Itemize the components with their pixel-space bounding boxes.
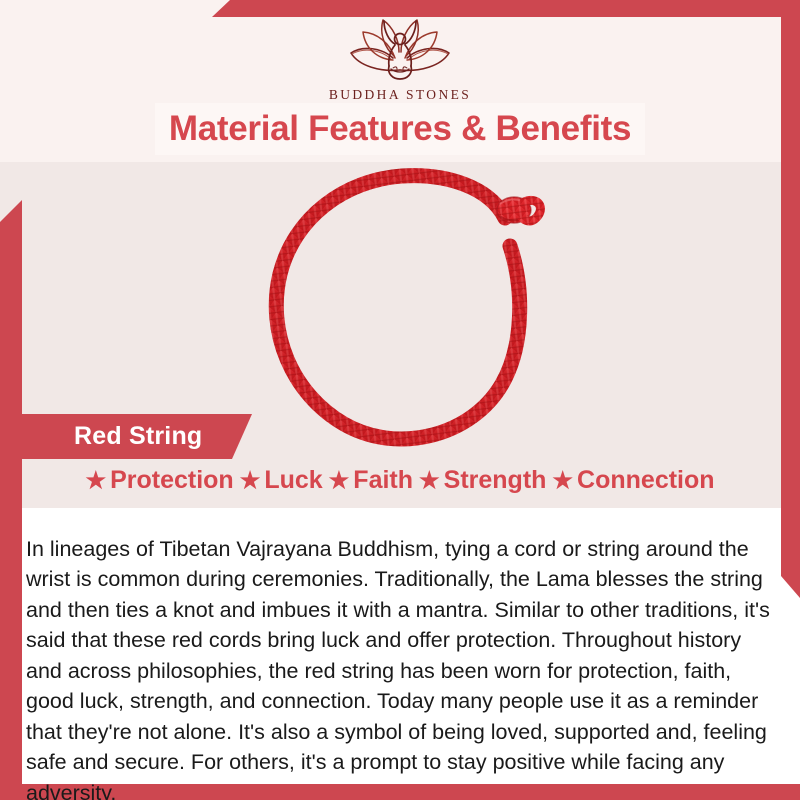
star-icon: ★ bbox=[329, 469, 350, 492]
material-features-infographic: BUDDHA STONES Material Features & Benefi… bbox=[0, 0, 800, 800]
benefit-label: Protection bbox=[110, 466, 234, 495]
benefits-list: ★ Protection ★ Luck ★ Faith ★ Strength ★… bbox=[0, 466, 800, 495]
brand-logo-block: BUDDHA STONES bbox=[0, 10, 800, 103]
section-ribbon-red-string: Red String bbox=[22, 414, 252, 459]
star-icon: ★ bbox=[85, 469, 106, 492]
page-title: Material Features & Benefits bbox=[169, 109, 631, 149]
benefit-label: Strength bbox=[444, 466, 547, 495]
decorative-frame-left bbox=[0, 200, 22, 800]
star-icon: ★ bbox=[419, 469, 440, 492]
description-paragraph: In lineages of Tibetan Vajrayana Buddhis… bbox=[26, 534, 774, 800]
star-icon: ★ bbox=[240, 469, 261, 492]
benefit-label: Luck bbox=[264, 466, 322, 495]
benefit-label: Faith bbox=[353, 466, 413, 495]
benefit-item-protection: ★ Protection bbox=[85, 466, 233, 495]
benefit-label: Connection bbox=[577, 466, 715, 495]
benefit-item-connection: ★ Connection bbox=[552, 466, 714, 495]
page-title-band: Material Features & Benefits bbox=[155, 103, 645, 155]
lotus-meditation-icon bbox=[341, 10, 459, 84]
ribbon-label: Red String bbox=[22, 422, 202, 451]
benefit-item-faith: ★ Faith bbox=[329, 466, 413, 495]
benefit-item-strength: ★ Strength bbox=[419, 466, 546, 495]
benefit-item-luck: ★ Luck bbox=[240, 466, 323, 495]
star-icon: ★ bbox=[552, 469, 573, 492]
brand-name: BUDDHA STONES bbox=[329, 87, 471, 103]
product-image-red-string-bracelet bbox=[252, 168, 562, 453]
